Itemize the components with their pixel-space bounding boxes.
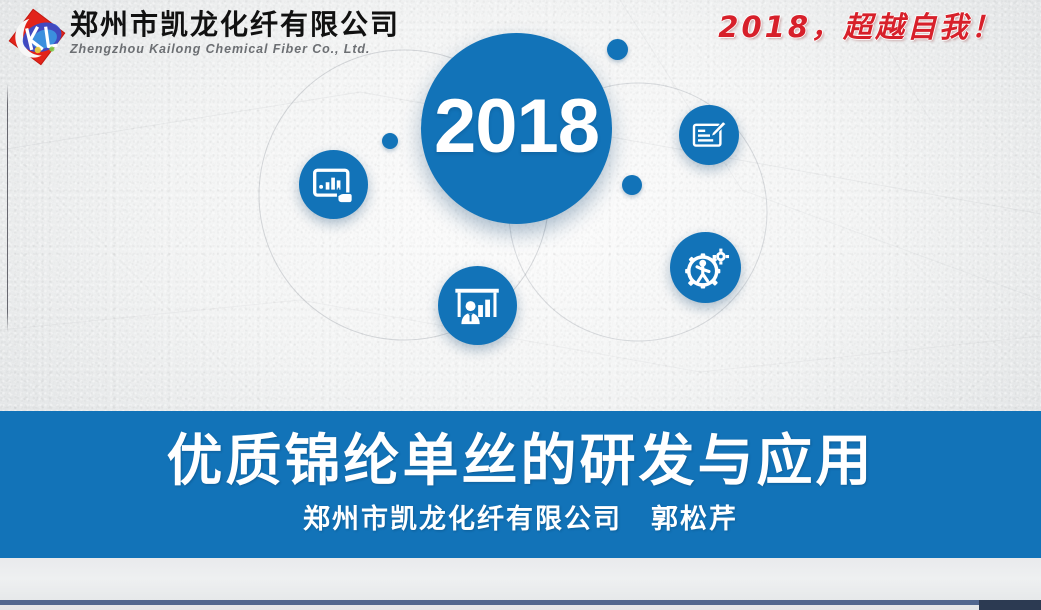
company-name-block: 郑州市凯龙化纤有限公司 Zhengzhou Kailong Chemical F… bbox=[70, 10, 400, 56]
footer-rule bbox=[0, 600, 1041, 605]
gear-person-icon bbox=[681, 243, 731, 293]
year-label: 2018 bbox=[434, 89, 599, 165]
document-pen-edit-icon bbox=[690, 116, 728, 154]
presentation-bubble[interactable] bbox=[438, 266, 517, 345]
kailong-diamond-logo bbox=[6, 6, 68, 68]
tablet-chart-touch-icon bbox=[311, 162, 355, 206]
footer-rule-dark-accent bbox=[979, 600, 1041, 610]
slogan-text: 2018，超越自我！ bbox=[718, 4, 1003, 46]
edit-doc-bubble[interactable] bbox=[679, 105, 739, 165]
accent-dot-right-middle bbox=[622, 175, 642, 195]
presentation-slide: 郑州市凯龙化纤有限公司 Zhengzhou Kailong Chemical F… bbox=[0, 0, 1041, 610]
page-title: 优质锦纶单丝的研发与应用 bbox=[167, 433, 875, 492]
chart-touch-bubble[interactable] bbox=[299, 150, 368, 219]
title-band: 优质锦纶单丝的研发与应用 郑州市凯龙化纤有限公司 郭松芹 bbox=[0, 411, 1041, 558]
company-name-en: Zhengzhou Kailong Chemical Fiber Co., Lt… bbox=[70, 42, 400, 56]
accent-dot-left bbox=[382, 133, 398, 149]
presentation-chart-person-icon bbox=[451, 279, 503, 331]
left-vertical-rule bbox=[7, 84, 8, 332]
slide-header: 郑州市凯龙化纤有限公司 Zhengzhou Kailong Chemical F… bbox=[0, 0, 1041, 78]
gear-person-bubble[interactable] bbox=[670, 232, 741, 303]
company-name-cn: 郑州市凯龙化纤有限公司 bbox=[70, 10, 400, 39]
page-subtitle: 郑州市凯龙化纤有限公司 郭松芹 bbox=[303, 497, 738, 536]
